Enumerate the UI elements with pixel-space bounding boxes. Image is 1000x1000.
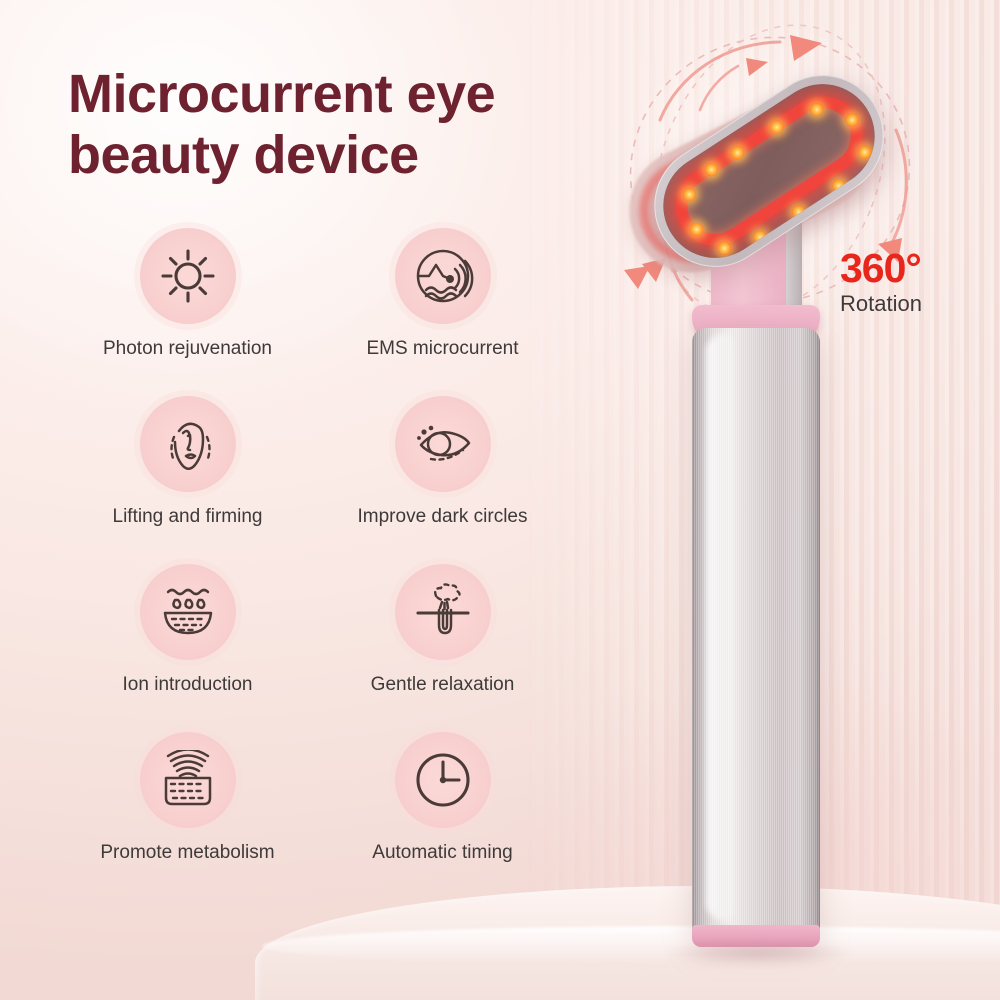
led-dot xyxy=(790,203,808,221)
clock-icon xyxy=(412,749,474,811)
feature-list: Photon rejuvenation EMS microcurr xyxy=(60,228,590,900)
feature-icon-bubble xyxy=(395,228,491,324)
feature-icon-bubble xyxy=(140,732,236,828)
feature-label: Photon rejuvenation xyxy=(103,338,272,360)
feature-icon-bubble xyxy=(140,228,236,324)
feature-row: Ion introduction xyxy=(60,564,590,696)
feature-row: Photon rejuvenation EMS microcurr xyxy=(60,228,590,360)
feature-icon-bubble xyxy=(395,396,491,492)
feature-row: Lifting and firming Improve dark circles xyxy=(60,396,590,528)
rotation-badge: 360° Rotation xyxy=(840,248,1000,315)
product-banner: Microcurrent eye beauty device xyxy=(0,0,1000,1000)
led-dot xyxy=(751,228,769,246)
ems-wave-icon xyxy=(412,245,474,307)
feature-icon-bubble xyxy=(395,732,491,828)
feature-label: Ion introduction xyxy=(123,674,253,696)
feature-icon-bubble xyxy=(140,396,236,492)
feature-icon-bubble xyxy=(395,564,491,660)
handle-highlight xyxy=(706,334,740,920)
headline-line-1: Microcurrent eye xyxy=(68,64,495,124)
feature-label: EMS microcurrent xyxy=(366,338,518,360)
face-lift-icon xyxy=(157,413,219,475)
feature-item-ems-microcurrent[interactable]: EMS microcurrent xyxy=(315,228,570,360)
ion-bowl-icon xyxy=(156,583,220,641)
feature-item-lifting-and-firming[interactable]: Lifting and firming xyxy=(60,396,315,528)
feature-label: Promote metabolism xyxy=(100,842,274,864)
feature-label: Lifting and firming xyxy=(113,506,263,528)
feature-item-gentle-relaxation[interactable]: Gentle relaxation xyxy=(315,564,570,696)
sun-icon xyxy=(158,246,218,306)
pore-steam-icon xyxy=(411,582,475,642)
feature-label: Gentle relaxation xyxy=(371,674,515,696)
feature-item-promote-metabolism[interactable]: Promote metabolism xyxy=(60,732,315,864)
feature-item-automatic-timing[interactable]: Automatic timing xyxy=(315,732,570,864)
feature-icon-bubble xyxy=(140,564,236,660)
headline-line-2: beauty device xyxy=(68,125,668,186)
product-device: 360° Rotation xyxy=(600,0,1000,1000)
rotation-badge-label: Rotation xyxy=(840,293,1000,315)
device-handle xyxy=(692,328,820,940)
page-title: Microcurrent eye beauty device xyxy=(68,64,668,186)
rotation-badge-value: 360° xyxy=(840,248,1000,289)
feature-label: Improve dark circles xyxy=(358,506,528,528)
skin-waves-icon xyxy=(156,750,220,810)
device-shadow xyxy=(664,940,854,966)
led-dot xyxy=(830,177,848,195)
feature-label: Automatic timing xyxy=(372,842,512,864)
feature-item-ion-introduction[interactable]: Ion introduction xyxy=(60,564,315,696)
feature-item-photon-rejuvenation[interactable]: Photon rejuvenation xyxy=(60,228,315,360)
feature-item-improve-dark-circles[interactable]: Improve dark circles xyxy=(315,396,570,528)
eye-icon xyxy=(411,415,475,473)
feature-row: Promote metabolism Automatic timing xyxy=(60,732,590,864)
